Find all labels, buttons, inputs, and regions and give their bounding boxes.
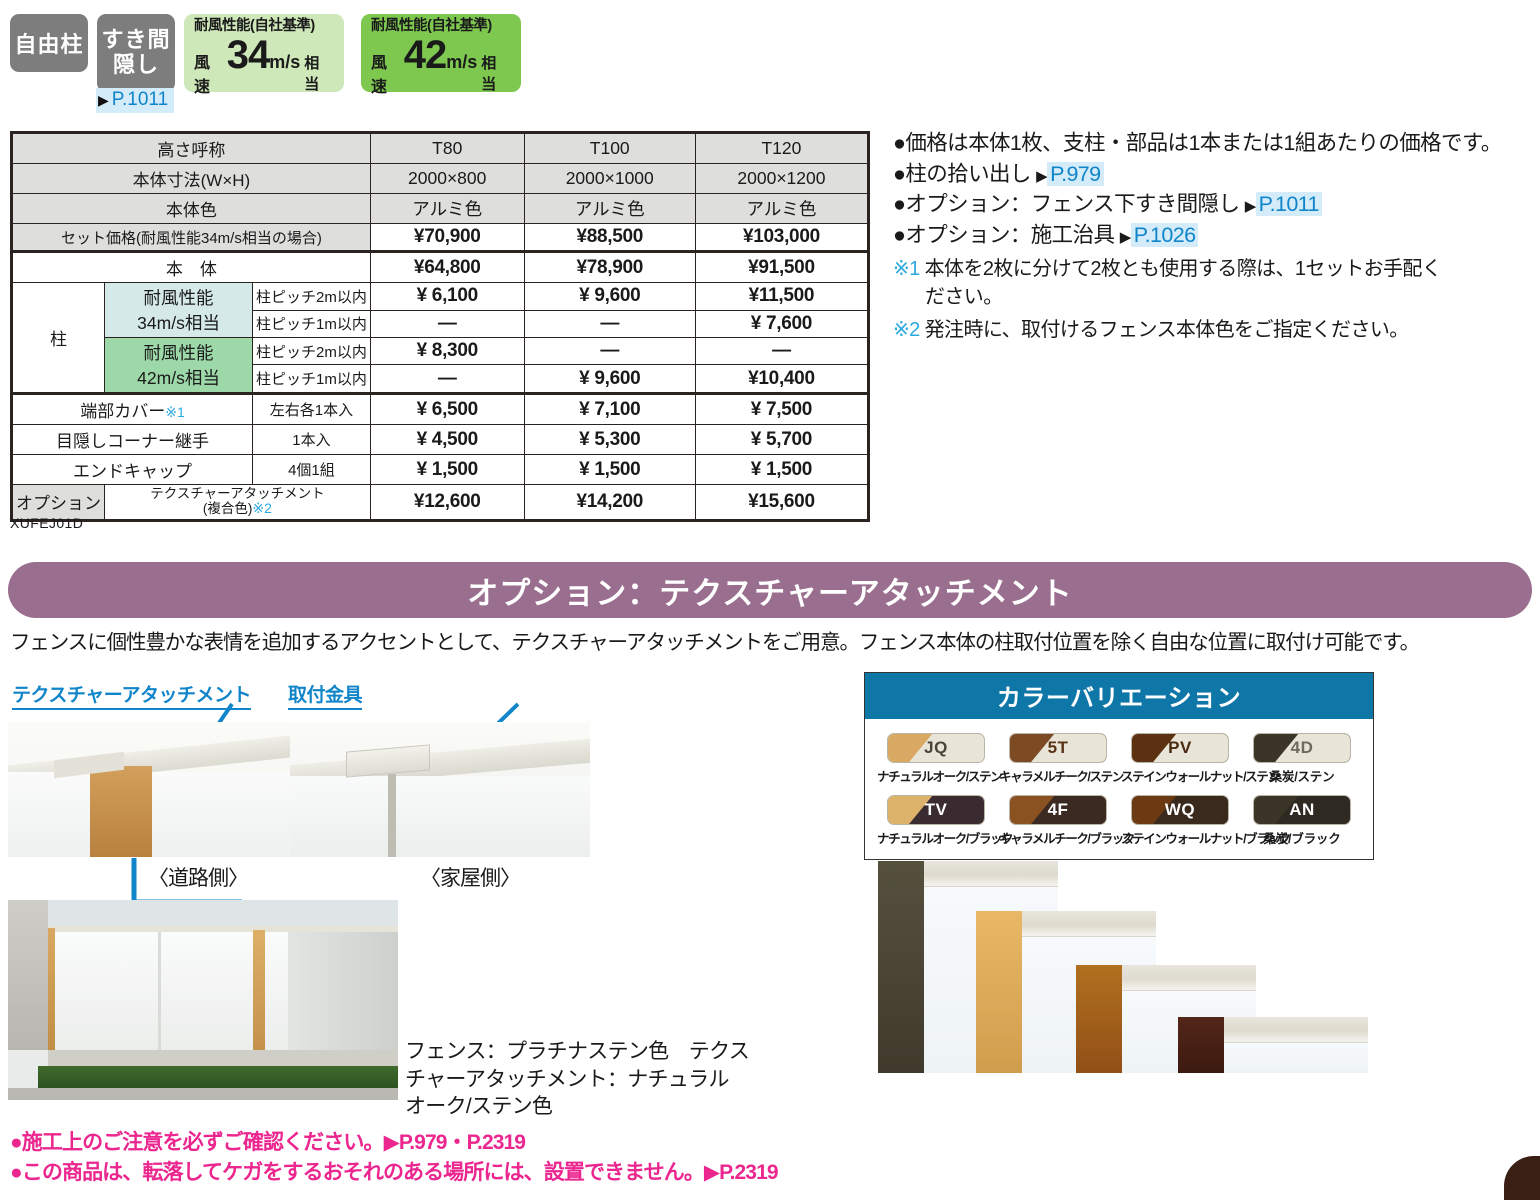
gap-cover-page-number: P.1011 bbox=[112, 89, 168, 110]
color-t80: アルミ色 bbox=[370, 194, 524, 224]
row-label-set-price: セット価格(耐風性能34m/s相当の場合) bbox=[12, 224, 371, 252]
endcap-t100: ¥ 1,500 bbox=[524, 455, 695, 485]
row-label-post: 柱 bbox=[12, 283, 105, 394]
set-price-t100: ¥88,500 bbox=[524, 224, 695, 252]
table-row-size: 本体寸法(W×H) 2000×800 2000×1000 2000×1200 bbox=[12, 164, 869, 194]
option-item-line2: (複合色)※2 bbox=[108, 501, 367, 516]
note-bullet-3: ●オプション：施工治具 ▶P.1026 bbox=[893, 220, 1538, 251]
color-code-jq: JQ bbox=[888, 734, 984, 762]
asterisk-note-2: ※2 発注時に、取付けるフェンス本体色をご指定ください。 bbox=[893, 316, 1538, 344]
asterisk-1-line2: ださい。 bbox=[893, 283, 1538, 311]
gap-cover-badge: すき間 隠し bbox=[97, 14, 175, 92]
pitch-2m-a: 柱ピッチ2m以内 bbox=[253, 283, 371, 311]
row-label-wind42: 耐風性能 42m/s相当 bbox=[105, 338, 253, 394]
option-section-description: フェンスに個性豊かな表情を追加するアクセントとして、テクスチャーアタッチメントを… bbox=[10, 625, 1535, 655]
table-row-endcap: エンドキャップ 4個1組 ¥ 1,500 ¥ 1,500 ¥ 1,500 bbox=[12, 455, 869, 485]
row-label-color: 本体色 bbox=[12, 194, 371, 224]
option-item-sub: (複合色) bbox=[203, 501, 253, 516]
w42-p1-t80: — bbox=[370, 365, 524, 394]
wind42-line1: 耐風性能 bbox=[108, 340, 249, 365]
wind-badge-34-value: 34 bbox=[227, 36, 270, 74]
note-bullet-3-ref[interactable]: P.1026 bbox=[1131, 223, 1199, 247]
asterisk-note-1: ※1 本体を2枚に分けて2枚とも使用する際は、1セットお手配く ださい。 bbox=[893, 255, 1538, 311]
w34-p2-t120: ¥11,500 bbox=[695, 283, 868, 311]
corner-t120: ¥ 5,700 bbox=[695, 425, 868, 455]
color-chip-5t: 5T bbox=[1009, 733, 1107, 763]
color-chip-4d: 4D bbox=[1253, 733, 1351, 763]
end-cover-t100: ¥ 7,100 bbox=[524, 394, 695, 425]
note-bullet-2-text: ●オプション：フェンス下すき間隠し bbox=[893, 192, 1245, 216]
page-corner-marker bbox=[1504, 1156, 1540, 1200]
end-cover-t120: ¥ 7,500 bbox=[695, 394, 868, 425]
color-swatch-tv[interactable]: TV ナチュラルオーク/ブラック bbox=[877, 795, 995, 847]
color-t120: アルミ色 bbox=[695, 194, 868, 224]
sample-rail-3 bbox=[1122, 965, 1256, 991]
row-label-end-cover: 端部カバー※1 bbox=[12, 394, 253, 425]
row-label-corner: 目隠しコーナー継手 bbox=[12, 425, 253, 455]
color-chip-an: AN bbox=[1253, 795, 1351, 825]
wind-badge-34-suffix: 相当 bbox=[304, 52, 334, 94]
color-variation-title: カラーバリエーション bbox=[865, 673, 1373, 719]
end-cover-t80: ¥ 6,500 bbox=[370, 394, 524, 425]
table-row-w42-p2: 耐風性能 42m/s相当 柱ピッチ2m以内 ¥ 8,300 — — bbox=[12, 338, 869, 365]
end-cover-qty: 左右各1本入 bbox=[253, 394, 371, 425]
sample-wood-1 bbox=[878, 861, 924, 1073]
option-t100: ¥14,200 bbox=[524, 485, 695, 521]
w42-p2-t80: ¥ 8,300 bbox=[370, 338, 524, 365]
warnings-block: ●施工上のご注意を必ずご確認ください。▶P.979・P.2319 ●この商品は、… bbox=[10, 1128, 778, 1189]
note-bullet-0: ●価格は本体1枚、支柱・部品は1本または1組あたりの価格です。 bbox=[893, 128, 1538, 159]
end-cover-text: 端部カバー bbox=[80, 402, 165, 421]
w42-p1-t100: ¥ 9,600 bbox=[524, 365, 695, 394]
color-t100: アルミ色 bbox=[524, 194, 695, 224]
color-code-an: AN bbox=[1254, 796, 1350, 824]
asterisk-1-mark: ※1 bbox=[893, 258, 920, 280]
note-bullet-1-text: ●柱の拾い出し bbox=[893, 162, 1036, 186]
color-code-4d: 4D bbox=[1254, 734, 1350, 762]
color-code-wq: WQ bbox=[1132, 796, 1228, 824]
sample-wood-3 bbox=[1076, 965, 1122, 1073]
gap-cover-line1: すき間 bbox=[101, 28, 170, 53]
asterisk-2-mark: ※2 bbox=[893, 319, 920, 341]
wind34-line1: 耐風性能 bbox=[108, 285, 249, 310]
color-code-5t: 5T bbox=[1010, 734, 1106, 762]
sample-body-4 bbox=[1224, 1043, 1368, 1073]
wind-badge-42-suffix: 相当 bbox=[481, 52, 511, 94]
color-swatch-4d[interactable]: 4D 桑炭/ステン bbox=[1243, 733, 1361, 785]
corner-t80: ¥ 4,500 bbox=[370, 425, 524, 455]
endcap-t80: ¥ 1,500 bbox=[370, 455, 524, 485]
fence-photo-caption: フェンス：プラチナステン色 テクス チャーアタッチメント：ナチュラル オーク/ス… bbox=[405, 1038, 805, 1121]
wind34-line2: 34m/s相当 bbox=[108, 310, 249, 335]
sample-panels-group bbox=[870, 855, 1430, 1095]
color-name-4d: 桑炭/ステン bbox=[1243, 766, 1361, 785]
fence-caption-line3: オーク/ステン色 bbox=[405, 1093, 805, 1121]
color-chip-4f: 4F bbox=[1009, 795, 1107, 825]
option-item-line1: テクスチャーアタッチメント bbox=[108, 487, 367, 501]
color-code-tv: TV bbox=[888, 796, 984, 824]
w42-p2-t100: — bbox=[524, 338, 695, 365]
row-label-endcap: エンドキャップ bbox=[12, 455, 253, 485]
sample-rail-2 bbox=[1022, 911, 1156, 937]
color-swatch-wq[interactable]: WQ ステインウォールナット/ブラック bbox=[1121, 795, 1239, 847]
color-name-wq: ステインウォールナット/ブラック bbox=[1121, 828, 1239, 847]
callout-label-bracket: 取付金具 bbox=[288, 680, 362, 710]
w42-p1-t120: ¥10,400 bbox=[695, 365, 868, 394]
color-chip-pv: PV bbox=[1131, 733, 1229, 763]
color-code-4f: 4F bbox=[1010, 796, 1106, 824]
w34-p1-t120: ¥ 7,600 bbox=[695, 310, 868, 338]
wind-badge-42-unit: m/s bbox=[446, 52, 477, 73]
color-row-1: JQ ナチュラルオーク/ステン 5T キャラメルチーク/ステン PV ステイン bbox=[875, 733, 1363, 785]
option-section-title: オプション：テクスチャーアタッチメント bbox=[467, 568, 1073, 613]
color-swatch-jq[interactable]: JQ ナチュラルオーク/ステン bbox=[877, 733, 995, 785]
table-row-w34-p2: 柱 耐風性能 34m/s相当 柱ピッチ2m以内 ¥ 6,100 ¥ 9,600 … bbox=[12, 283, 869, 311]
color-variation-panel: カラーバリエーション JQ ナチュラルオーク/ステン 5T キャラメルチーク/ス… bbox=[864, 672, 1374, 860]
sample-rail-4 bbox=[1224, 1017, 1368, 1043]
triangle-icon: ▶ bbox=[98, 92, 109, 108]
sample-panel-4 bbox=[1178, 1017, 1368, 1073]
end-cover-note-mark: ※1 bbox=[165, 404, 185, 420]
color-swatch-4f[interactable]: 4F キャラメルチーク/ブラック bbox=[999, 795, 1117, 847]
wind-badge-42-prefix: 風速 bbox=[371, 49, 403, 97]
sample-rail-1 bbox=[924, 861, 1058, 887]
photo-street-scene bbox=[8, 900, 398, 1100]
badge-row: 自由柱 すき間 隠し 耐風性能(自社基準) 風速 34 m/s 相当 耐風性能(… bbox=[10, 14, 521, 92]
asterisk-1-line1: 本体を2枚に分けて2枚とも使用する際は、1セットお手配く bbox=[925, 258, 1442, 280]
photo-road-side bbox=[8, 722, 298, 857]
table-row-corner: 目隠しコーナー継手 1本入 ¥ 4,500 ¥ 5,300 ¥ 5,700 bbox=[12, 425, 869, 455]
col-header-t80: T80 bbox=[370, 133, 524, 164]
color-name-4f: キャラメルチーク/ブラック bbox=[999, 828, 1117, 847]
corner-qty: 1本入 bbox=[253, 425, 371, 455]
color-code-pv: PV bbox=[1132, 734, 1228, 762]
color-name-pv: ステインウォールナット/ステン bbox=[1121, 766, 1239, 785]
note-bullet-0-text: ●価格は本体1枚、支柱・部品は1本または1組あたりの価格です。 bbox=[893, 131, 1502, 155]
note-bullet-1: ●柱の拾い出し ▶P.979 bbox=[893, 159, 1538, 190]
photo-house-side bbox=[290, 722, 590, 857]
size-t80: 2000×800 bbox=[370, 164, 524, 194]
endcap-t120: ¥ 1,500 bbox=[695, 455, 868, 485]
caption-road-side: 〈道路側〉 bbox=[148, 862, 248, 892]
color-chip-tv: TV bbox=[887, 795, 985, 825]
color-row-2: TV ナチュラルオーク/ブラック 4F キャラメルチーク/ブラック WQ ステ bbox=[875, 795, 1363, 847]
set-price-t80: ¥70,900 bbox=[370, 224, 524, 252]
triangle-icon-1: ▶ bbox=[1036, 168, 1047, 185]
note-bullet-2-ref[interactable]: P.1011 bbox=[1256, 192, 1322, 216]
sample-wood-2 bbox=[976, 911, 1022, 1073]
triangle-icon-3: ▶ bbox=[1120, 229, 1131, 246]
pitch-1m-a: 柱ピッチ1m以内 bbox=[253, 310, 371, 338]
col-header-t100: T100 bbox=[524, 133, 695, 164]
fence-caption-line2: チャーアタッチメント：ナチュラル bbox=[405, 1066, 805, 1094]
option-t80: ¥12,600 bbox=[370, 485, 524, 521]
pitch-1m-b: 柱ピッチ1m以内 bbox=[253, 365, 371, 394]
row-label-height: 高さ呼称 bbox=[12, 133, 371, 164]
w34-p1-t80: — bbox=[370, 310, 524, 338]
asterisk-2-line1: 発注時に、取付けるフェンス本体色をご指定ください。 bbox=[925, 319, 1409, 341]
table-row-body: 本 体 ¥64,800 ¥78,900 ¥91,500 bbox=[12, 252, 869, 283]
w42-p2-t120: — bbox=[695, 338, 868, 365]
triangle-icon-2: ▶ bbox=[1245, 198, 1256, 215]
table-row-end-cover: 端部カバー※1 左右各1本入 ¥ 6,500 ¥ 7,100 ¥ 7,500 bbox=[12, 394, 869, 425]
note-bullet-2: ●オプション：フェンス下すき間隠し ▶P.1011 bbox=[893, 189, 1538, 220]
wind-badge-34: 耐風性能(自社基準) 風速 34 m/s 相当 bbox=[184, 14, 344, 92]
col-header-t120: T120 bbox=[695, 133, 868, 164]
color-name-jq: ナチュラルオーク/ステン bbox=[877, 766, 995, 785]
w34-p2-t100: ¥ 9,600 bbox=[524, 283, 695, 311]
warning-line-2: ●この商品は、転落してケガをするおそれのある場所には、設置できません。▶P.23… bbox=[10, 1158, 778, 1188]
gap-cover-line2: 隠し bbox=[101, 53, 170, 78]
color-swatch-an[interactable]: AN 桑炭/ブラック bbox=[1243, 795, 1361, 847]
size-t100: 2000×1000 bbox=[524, 164, 695, 194]
note-bullet-3-text: ●オプション：施工治具 bbox=[893, 223, 1120, 247]
gap-cover-page-link[interactable]: ▶P.1011 bbox=[96, 88, 174, 113]
sample-wood-4 bbox=[1178, 1017, 1224, 1073]
wind-badge-34-prefix: 風速 bbox=[194, 49, 226, 97]
table-row-set-price: セット価格(耐風性能34m/s相当の場合) ¥70,900 ¥88,500 ¥1… bbox=[12, 224, 869, 252]
wind-badge-42: 耐風性能(自社基準) 風速 42 m/s 相当 bbox=[361, 14, 521, 92]
color-swatch-pv[interactable]: PV ステインウォールナット/ステン bbox=[1121, 733, 1239, 785]
w34-p2-t80: ¥ 6,100 bbox=[370, 283, 524, 311]
row-label-body: 本 体 bbox=[12, 252, 371, 283]
option-note-mark: ※2 bbox=[252, 500, 272, 516]
free-post-badge: 自由柱 bbox=[10, 14, 88, 72]
color-swatch-5t[interactable]: 5T キャラメルチーク/ステン bbox=[999, 733, 1117, 785]
body-price-t80: ¥64,800 bbox=[370, 252, 524, 283]
table-row-color: 本体色 アルミ色 アルミ色 アルミ色 bbox=[12, 194, 869, 224]
table-row-option: オプション テクスチャーアタッチメント (複合色)※2 ¥12,600 ¥14,… bbox=[12, 485, 869, 521]
wind-badge-34-unit: m/s bbox=[269, 52, 300, 73]
size-t120: 2000×1200 bbox=[695, 164, 868, 194]
color-name-5t: キャラメルチーク/ステン bbox=[999, 766, 1117, 785]
option-item-name: テクスチャーアタッチメント (複合色)※2 bbox=[105, 485, 371, 521]
table-product-code: XUFEJ01D bbox=[10, 515, 83, 531]
price-table: 高さ呼称 T80 T100 T120 本体寸法(W×H) 2000×800 20… bbox=[10, 131, 870, 522]
endcap-qty: 4個1組 bbox=[253, 455, 371, 485]
wind42-line2: 42m/s相当 bbox=[108, 365, 249, 390]
w34-p1-t100: — bbox=[524, 310, 695, 338]
callout-label-attachment: テクスチャーアタッチメント bbox=[12, 680, 251, 710]
warning-line-1: ●施工上のご注意を必ずご確認ください。▶P.979・P.2319 bbox=[10, 1128, 778, 1158]
corner-t100: ¥ 5,300 bbox=[524, 425, 695, 455]
color-chip-jq: JQ bbox=[887, 733, 985, 763]
caption-house-side: 〈家屋側〉 bbox=[420, 862, 520, 892]
option-t120: ¥15,600 bbox=[695, 485, 868, 521]
note-bullet-1-ref[interactable]: P.979 bbox=[1047, 162, 1103, 186]
notes-block: ●価格は本体1枚、支柱・部品は1本または1組あたりの価格です。 ●柱の拾い出し … bbox=[893, 128, 1538, 344]
option-section-banner: オプション：テクスチャーアタッチメント bbox=[8, 562, 1532, 618]
wind-badge-42-value: 42 bbox=[404, 36, 447, 74]
table-row-height: 高さ呼称 T80 T100 T120 bbox=[12, 133, 869, 164]
color-name-an: 桑炭/ブラック bbox=[1243, 828, 1361, 847]
color-name-tv: ナチュラルオーク/ブラック bbox=[877, 828, 995, 847]
body-price-t120: ¥91,500 bbox=[695, 252, 868, 283]
fence-caption-line1: フェンス：プラチナステン色 テクス bbox=[405, 1038, 805, 1066]
color-chip-wq: WQ bbox=[1131, 795, 1229, 825]
row-label-size: 本体寸法(W×H) bbox=[12, 164, 371, 194]
row-label-wind34: 耐風性能 34m/s相当 bbox=[105, 283, 253, 338]
set-price-t120: ¥103,000 bbox=[695, 224, 868, 252]
body-price-t100: ¥78,900 bbox=[524, 252, 695, 283]
pitch-2m-b: 柱ピッチ2m以内 bbox=[253, 338, 371, 365]
